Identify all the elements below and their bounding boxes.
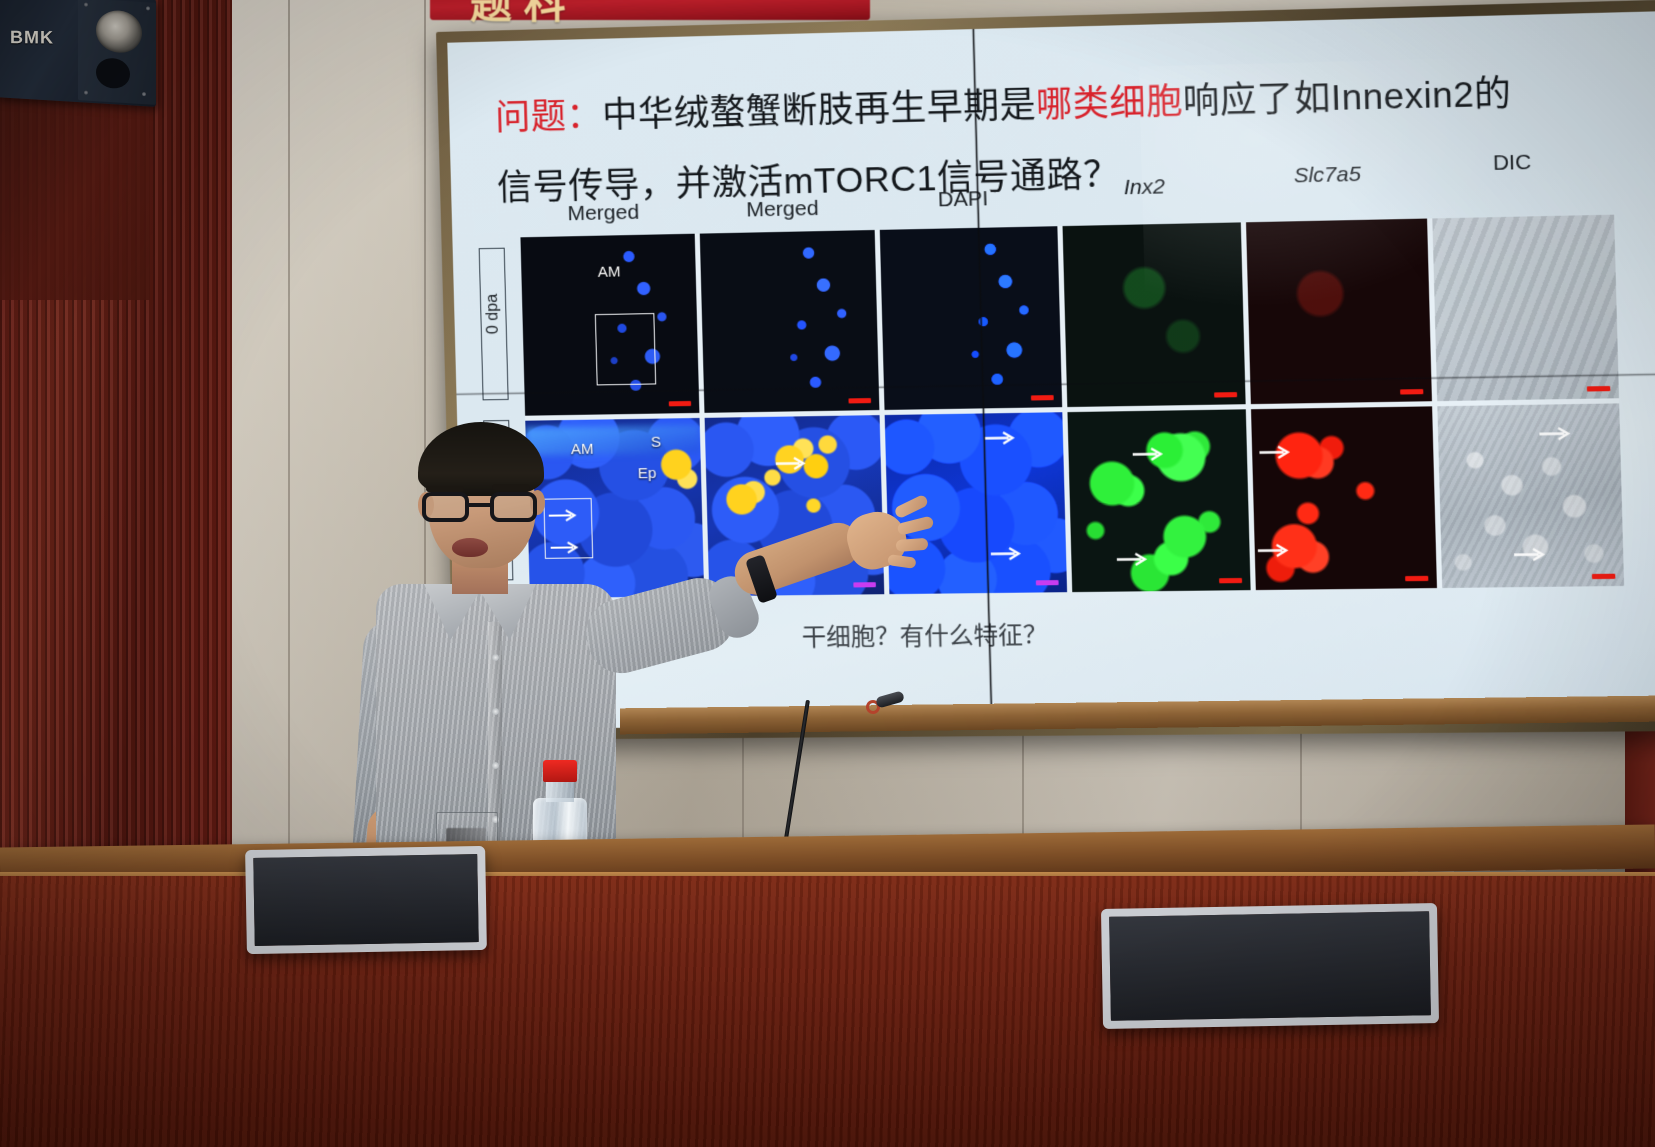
panel-row2-inx2[interactable] <box>1067 409 1251 592</box>
bottle-cap[interactable] <box>543 760 577 782</box>
chair-backrest <box>1109 911 1431 1021</box>
column-label-merged-2: Merged <box>706 196 859 223</box>
slc7a5-signal <box>1246 219 1431 404</box>
bottle-neck <box>546 780 574 802</box>
scale-bar <box>1405 576 1428 581</box>
presenter-mouth <box>452 538 488 557</box>
glasses-bridge <box>469 503 490 507</box>
chair-backrest <box>253 854 479 946</box>
row-label-0dpa: 0 dpa <box>479 248 509 401</box>
panel-0dpa-merged-1[interactable]: AM <box>520 234 698 415</box>
shirt-button <box>492 762 499 769</box>
chair-left[interactable] <box>245 846 487 954</box>
scale-bar <box>668 400 690 405</box>
wall-seam <box>288 0 290 880</box>
finger <box>887 554 916 569</box>
column-label-dic: DIC <box>1433 149 1592 177</box>
scale-bar <box>1400 389 1423 395</box>
question-line1-tail: 响应了如Innexin2的 <box>1182 74 1512 122</box>
screw <box>84 2 88 6</box>
red-banner: 题 科 <box>430 0 870 20</box>
panel-row2-slc7a5[interactable] <box>1251 406 1436 590</box>
eyebrow-right <box>492 484 530 490</box>
finger <box>896 538 929 552</box>
column-label-inx2: Inx2 <box>1066 174 1222 202</box>
dic-image <box>1437 403 1624 588</box>
shirt-button <box>492 654 499 661</box>
scale-bar <box>1214 392 1237 397</box>
column-label-merged-1: Merged <box>528 200 680 227</box>
screw <box>146 6 150 10</box>
panel-0dpa-dapi[interactable] <box>880 226 1062 409</box>
roi-box <box>595 313 656 385</box>
question-line1-black: 中华绒螯蟹断肢再生早期是 <box>602 85 1037 135</box>
annotation-am: AM <box>597 264 620 282</box>
lecture-hall-scene: 题 科 BMK 问题：中华绒螯蟹断肢再生早期是哪类细胞响应了如Innexin2的… <box>0 0 1655 1147</box>
row-label-0dpa-text: 0 dpa <box>484 310 503 334</box>
panel-0dpa-slc7a5[interactable] <box>1246 219 1431 404</box>
scale-bar <box>848 398 871 403</box>
inx2-signal <box>1062 222 1246 406</box>
ceiling-speaker: BMK <box>0 0 156 107</box>
speaker-brand-label: BMK <box>10 27 54 48</box>
eyeglasses <box>420 492 542 522</box>
dapi-signal <box>880 226 1062 409</box>
column-label-slc7a5: Slc7a5 <box>1249 162 1407 190</box>
dapi-signal <box>699 230 879 412</box>
panel-0dpa-inx2[interactable] <box>1062 222 1246 406</box>
scale-bar <box>1587 385 1610 391</box>
panel-0dpa-dic[interactable] <box>1432 215 1619 401</box>
question-line1-highlight: 哪类细胞 <box>1036 82 1184 125</box>
screw <box>142 92 146 96</box>
lens-right <box>490 492 537 522</box>
panel-0dpa-merged-2[interactable] <box>699 230 879 412</box>
shirt-button <box>492 708 499 715</box>
scale-bar <box>1592 574 1615 579</box>
scale-bar <box>1219 578 1242 583</box>
question-prefix: 问题： <box>495 96 603 138</box>
scale-bar <box>1035 580 1058 585</box>
lens-left <box>422 492 469 522</box>
banner-glyphs: 题 科 <box>470 0 566 31</box>
slide-question-line-1: 问题：中华绒螯蟹断肢再生早期是哪类细胞响应了如Innexin2的 <box>495 65 1513 141</box>
dic-image <box>1432 215 1619 401</box>
scale-bar <box>1030 395 1053 400</box>
column-label-dapi: DAPI <box>886 186 1041 214</box>
chair-right[interactable] <box>1101 903 1439 1029</box>
screw <box>84 90 88 94</box>
inx2-signal <box>1067 409 1251 592</box>
slc7a5-signal <box>1251 406 1436 590</box>
panel-row2-dic[interactable] <box>1437 403 1624 588</box>
